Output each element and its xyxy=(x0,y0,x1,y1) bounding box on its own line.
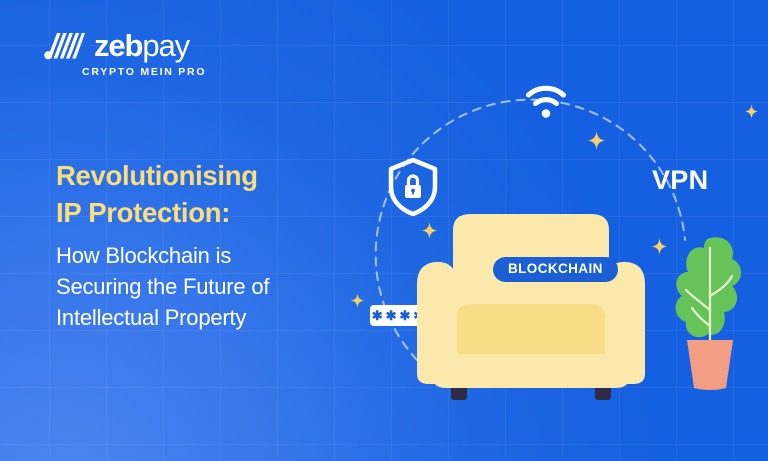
blockchain-badge[interactable]: BLOCKCHAIN xyxy=(493,257,618,282)
potted-plant-icon xyxy=(670,214,750,392)
logo-tagline: CRYPTO MEIN PRO xyxy=(82,66,244,78)
sparkle-icon xyxy=(745,104,758,119)
zebpay-logo[interactable]: zebpay CRYPTO MEIN PRO xyxy=(44,30,244,78)
armchair-icon xyxy=(415,212,647,408)
subhead-line-3: Intellectual Property xyxy=(56,302,376,333)
headline-line-1: Revolutionising xyxy=(56,157,376,194)
sparkle-icon xyxy=(351,293,364,308)
logo-wordmark: zebpay xyxy=(94,30,189,61)
headline-line-2: IP Protection: xyxy=(56,194,376,231)
logo-word-secondary: pay xyxy=(142,28,189,63)
illustration: VPN ✱ ✱ ✱ ✱ xyxy=(355,0,768,461)
sparkle-icon xyxy=(652,238,667,255)
password-dot-2: ✱ xyxy=(386,312,397,320)
subhead-line-2: Securing the Future of xyxy=(56,271,376,302)
zebpay-stripes-icon xyxy=(44,32,85,60)
wifi-icon xyxy=(525,84,567,118)
subhead-line-1: How Blockchain is xyxy=(56,240,376,271)
password-dot-1: ✱ xyxy=(372,312,383,320)
promo-banner: zebpay CRYPTO MEIN PRO Revolutionising I… xyxy=(0,0,768,461)
sparkle-icon xyxy=(588,131,605,150)
logo-word-primary: zeb xyxy=(94,28,142,63)
password-dot-3: ✱ xyxy=(400,312,411,320)
headline-block: Revolutionising IP Protection: How Block… xyxy=(56,157,376,333)
shield-lock-icon xyxy=(387,158,439,216)
vpn-label: VPN xyxy=(652,165,708,196)
